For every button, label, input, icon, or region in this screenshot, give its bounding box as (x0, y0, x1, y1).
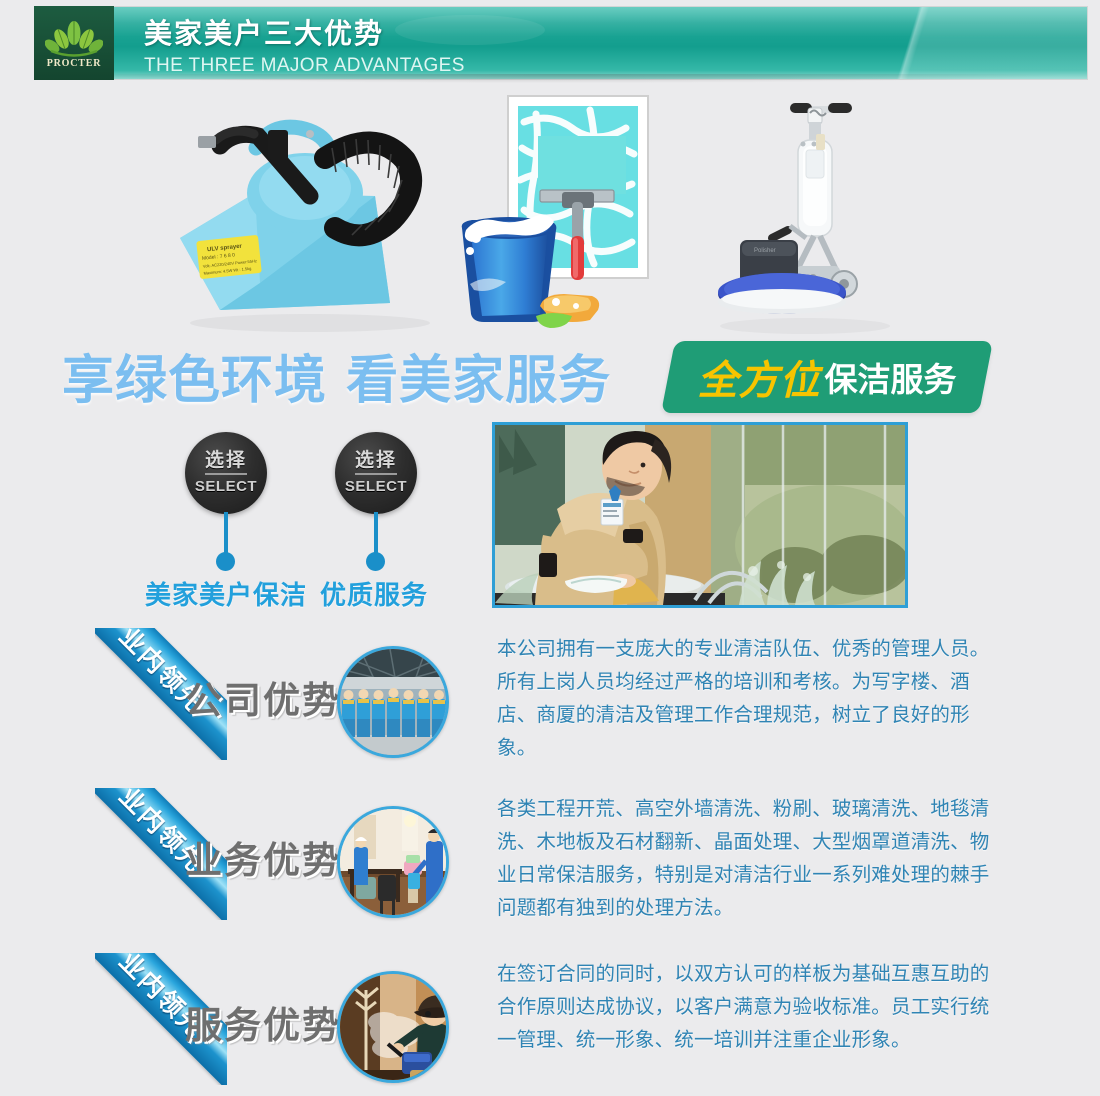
header-title-group: 美家美户三大优势 THE THREE MAJOR ADVANTAGES (144, 12, 465, 77)
advantage-text-3: 在签订合同的同时，以双方认可的样板为基础互惠互助的合作原则达成协议，以客户满意为… (497, 957, 1009, 1056)
banner-text-white: 保洁服务 (825, 353, 957, 401)
staff-team-lineup-photo (340, 649, 449, 758)
promo-page: PROCTER 美家美户三大优势 THE THREE MAJOR ADVANTA… (0, 0, 1100, 1096)
worker-spraying-wall-photo (340, 974, 449, 1083)
headline-main: 享绿色环境 看美家服务 (62, 338, 611, 413)
advantage-title-2: 业务优势 (185, 830, 341, 884)
select-dot-2 (366, 552, 385, 571)
banner-text-yellow: 全方位 (698, 348, 821, 406)
select-badge-2[interactable]: 选择 SELECT (335, 432, 417, 514)
leaf-crown-icon (45, 20, 103, 60)
header-banner: PROCTER 美家美户三大优势 THE THREE MAJOR ADVANTA… (34, 6, 1088, 80)
select-badge-2-en: SELECT (345, 478, 407, 495)
all-round-service-banner: 全方位 保洁服务 (661, 341, 993, 413)
select-dot-1 (216, 552, 235, 571)
advantage-photo-1 (337, 646, 449, 758)
indoor-cleaning-crew-photo (340, 809, 449, 918)
header-title-cn: 美家美户三大优势 (144, 12, 465, 52)
svg-text:Polisher: Polisher (754, 248, 776, 254)
product-image-row: ULV sprayer Model : 7 6 8 0 Volt: AC220/… (0, 88, 1100, 338)
advantage-text-1: 本公司拥有一支庞大的专业清洁队伍、优秀的管理人员。所有上岗人员均经过严格的培训和… (497, 632, 1009, 764)
floor-polisher-machine: Polisher (710, 88, 910, 338)
logo-wordmark: PROCTER (47, 58, 102, 69)
select-badge-1-en: SELECT (195, 478, 257, 495)
advantage-title-1: 公司优势 (185, 670, 341, 724)
worker-photo-illustration (495, 425, 905, 605)
advantage-photo-3 (337, 971, 449, 1083)
advantage-title-3: 服务优势 (185, 995, 341, 1049)
select-badge-1-cn: 选择 (205, 451, 247, 475)
company-logo: PROCTER (34, 6, 114, 80)
advantage-photo-2 (337, 806, 449, 918)
window-squeegee-bucket (440, 88, 690, 338)
select-label-1: 美家美户保洁 (145, 575, 307, 612)
cleaning-worker-photo (492, 422, 908, 608)
select-badge-1[interactable]: 选择 SELECT (185, 432, 267, 514)
select-badge-2-cn: 选择 (355, 451, 397, 475)
header-diagonal-stripe (757, 7, 1087, 79)
select-label-2: 优质服务 (320, 575, 428, 612)
header-title-en: THE THREE MAJOR ADVANTAGES (144, 55, 465, 77)
advantage-text-2: 各类工程开荒、高空外墙清洗、粉刷、玻璃清洗、地毯清洗、木地板及石材翻新、晶面处理… (497, 792, 1009, 924)
